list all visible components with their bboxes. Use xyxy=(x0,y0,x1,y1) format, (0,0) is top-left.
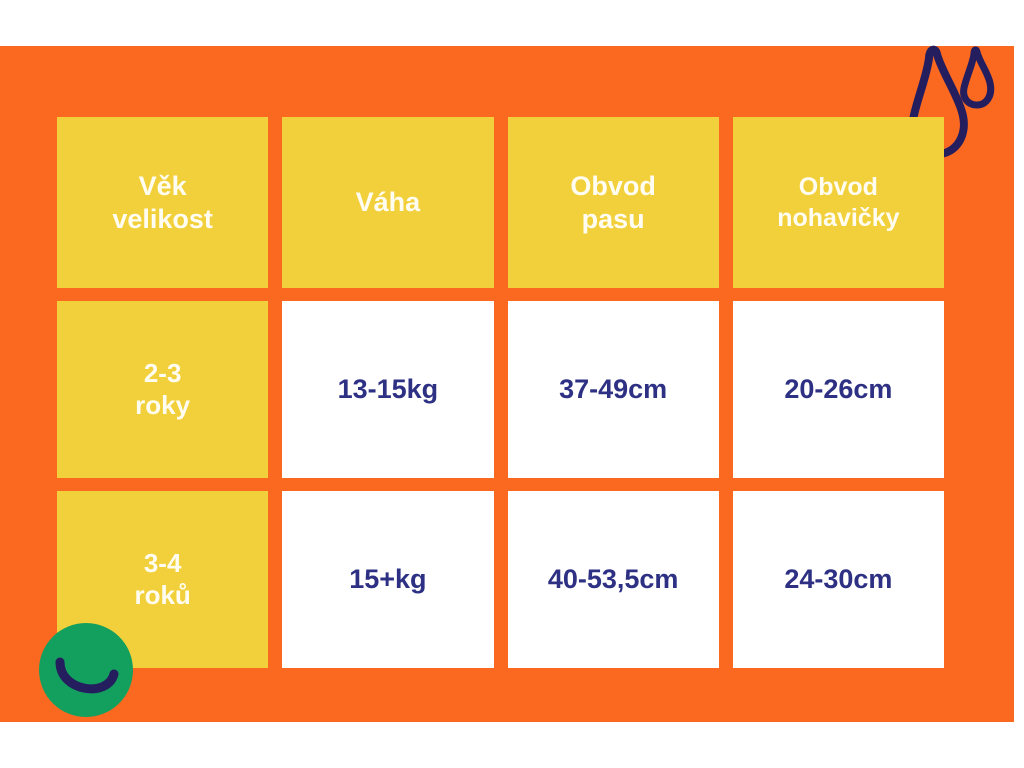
table-cell-leg-row2: 24-30cm xyxy=(733,491,944,668)
table-header-age-size: Věk velikost xyxy=(57,117,268,288)
header-age-line2: velikost xyxy=(112,204,213,234)
table-cell-waist-row1: 37-49cm xyxy=(508,301,719,478)
header-age-line1: Věk xyxy=(139,171,187,201)
row1-age-line1: 2-3 xyxy=(144,358,182,388)
table-header-weight: Váha xyxy=(282,117,493,288)
row2-age-line1: 3-4 xyxy=(144,548,182,578)
green-circle-icon xyxy=(39,623,133,717)
header-waist-line1: Obvod xyxy=(570,171,656,201)
size-chart-table: Věk velikost Váha Obvod pasu Obvod nohav… xyxy=(57,117,944,662)
smiley-decoration xyxy=(38,622,134,718)
header-waist-line2: pasu xyxy=(582,204,645,234)
row1-age-line2: roky xyxy=(135,390,190,420)
row2-age-line2: roků xyxy=(134,580,190,610)
table-header-waist: Obvod pasu xyxy=(508,117,719,288)
smiley-svg xyxy=(38,622,134,718)
header-leg-line2: nohavičky xyxy=(777,204,899,232)
table-cell-weight-row1: 13-15kg xyxy=(282,301,493,478)
header-leg-line1: Obvod xyxy=(799,173,878,201)
size-chart-graphic: Věk velikost Váha Obvod pasu Obvod nohav… xyxy=(0,0,1024,768)
table-cell-leg-row1: 20-26cm xyxy=(733,301,944,478)
table-cell-weight-row2: 15+kg xyxy=(282,491,493,668)
table-header-leg: Obvod nohavičky xyxy=(733,117,944,288)
table-cell-waist-row2: 40-53,5cm xyxy=(508,491,719,668)
header-weight-label: Váha xyxy=(356,186,421,219)
table-row-age-2-3: 2-3 roky xyxy=(57,301,268,478)
